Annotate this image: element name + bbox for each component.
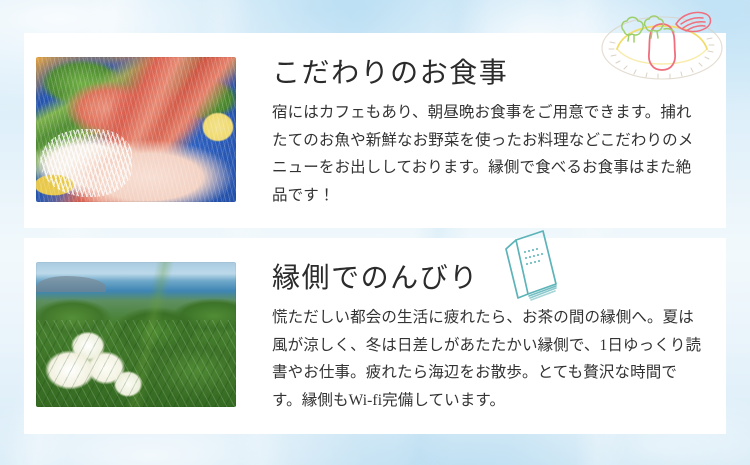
daikon-garnish-detail xyxy=(40,129,132,197)
foliage-texture-overlay xyxy=(36,320,236,407)
engawa-section-title: 縁側でのんびり xyxy=(272,262,704,295)
section-card-engawa: 縁側でのんびり 慌ただしい都会の生活に疲れたら、お茶の間の縁側へ。夏は風が涼しく… xyxy=(24,238,726,434)
distant-headland-detail xyxy=(36,276,106,292)
engawa-text-column: 縁側でのんびり 慌ただしい都会の生活に疲れたら、お茶の間の縁側へ。夏は風が涼しく… xyxy=(236,262,726,414)
section-card-dining: こだわりのお食事 宿にはカフェもあり、朝昼晩お食事をご用意できます。捕れたてのお… xyxy=(24,33,726,228)
coastal-lily-photo xyxy=(36,262,236,407)
sashimi-platter-photo xyxy=(36,57,236,202)
engawa-section-body: 慌ただしい都会の生活に疲れたら、お茶の間の縁側へ。夏は風が涼しく、冬は日差しがあ… xyxy=(272,304,704,414)
dining-text-column: こだわりのお食事 宿にはカフェもあり、朝昼晩お食事をご用意できます。捕れたてのお… xyxy=(236,57,726,209)
dining-section-body: 宿にはカフェもあり、朝昼晩お食事をご用意できます。捕れたてのお魚や新鮮なお野菜を… xyxy=(272,99,704,209)
photo-texture-overlay xyxy=(36,57,236,202)
page-root: こだわりのお食事 宿にはカフェもあり、朝昼晩お食事をご用意できます。捕れたてのお… xyxy=(0,0,750,465)
dining-section-title: こだわりのお食事 xyxy=(272,57,704,90)
